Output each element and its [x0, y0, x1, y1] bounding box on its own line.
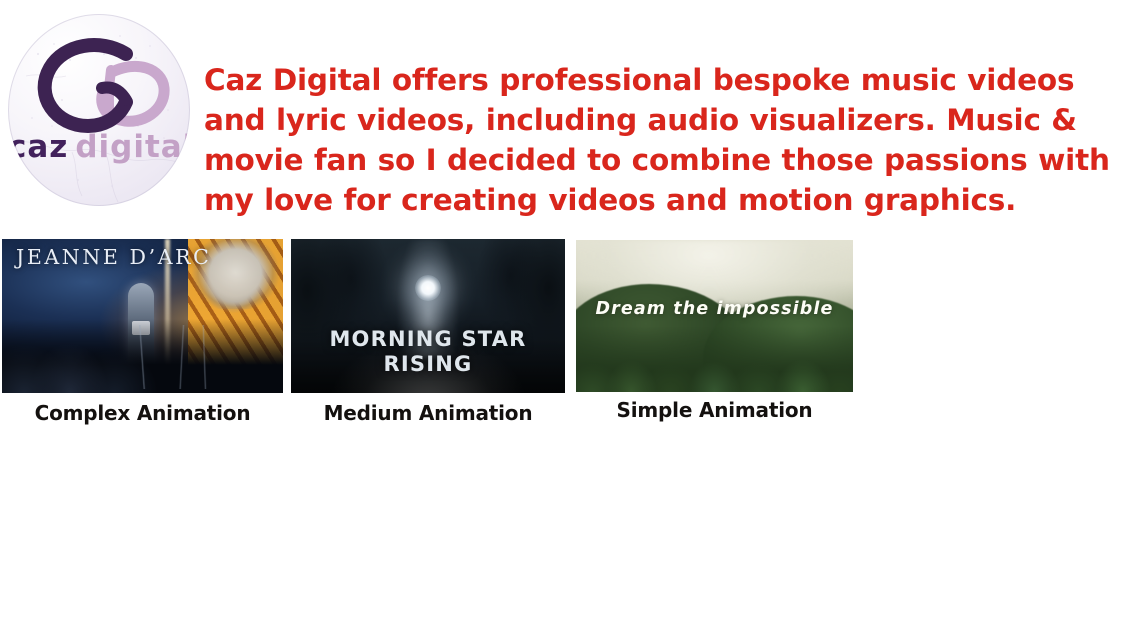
animation-samples-row: JEANNE D’ARC Complex Animation MORNING S…: [0, 228, 1138, 428]
thumbnail-jeanne-darc[interactable]: JEANNE D’ARC: [2, 239, 283, 393]
card-caption-medium: Medium Animation: [291, 401, 565, 425]
logo-wordmark: cazdigital: [8, 132, 190, 163]
spears: [2, 325, 283, 389]
thumbnail-title-line-2: RISING: [291, 352, 565, 377]
thumbnail-title: MORNING STAR RISING: [291, 327, 565, 377]
thumbnail-morning-star-rising[interactable]: MORNING STAR RISING: [291, 239, 565, 393]
logo-wordmark-digital: digital: [75, 129, 190, 165]
card-caption-simple: Simple Animation: [576, 398, 853, 422]
thumbnail-dream-the-impossible[interactable]: Dream the impossible: [576, 240, 853, 392]
card-caption-complex: Complex Animation: [2, 401, 283, 425]
tree-canopy: [576, 326, 853, 392]
cd-monogram-icon: [8, 20, 190, 140]
logo-circle: cazdigital: [8, 14, 190, 206]
thumbnail-title-line-1: MORNING STAR: [291, 327, 565, 352]
logo-wordmark-caz: caz: [8, 129, 68, 165]
intro-paragraph: Caz Digital offers professional bespoke …: [204, 60, 1138, 220]
star-icon: [415, 275, 441, 301]
thumbnail-title: Dream the impossible: [576, 299, 853, 319]
intro-section: cazdigital Caz Digital offers profession…: [0, 0, 1138, 220]
animation-card-complex[interactable]: JEANNE D’ARC Complex Animation: [2, 239, 283, 425]
caz-digital-logo[interactable]: cazdigital: [8, 14, 190, 206]
thumbnail-title: JEANNE D’ARC: [16, 245, 211, 269]
animation-card-medium[interactable]: MORNING STAR RISING Medium Animation: [291, 239, 565, 425]
animation-card-simple[interactable]: Dream the impossible Simple Animation: [576, 240, 853, 422]
